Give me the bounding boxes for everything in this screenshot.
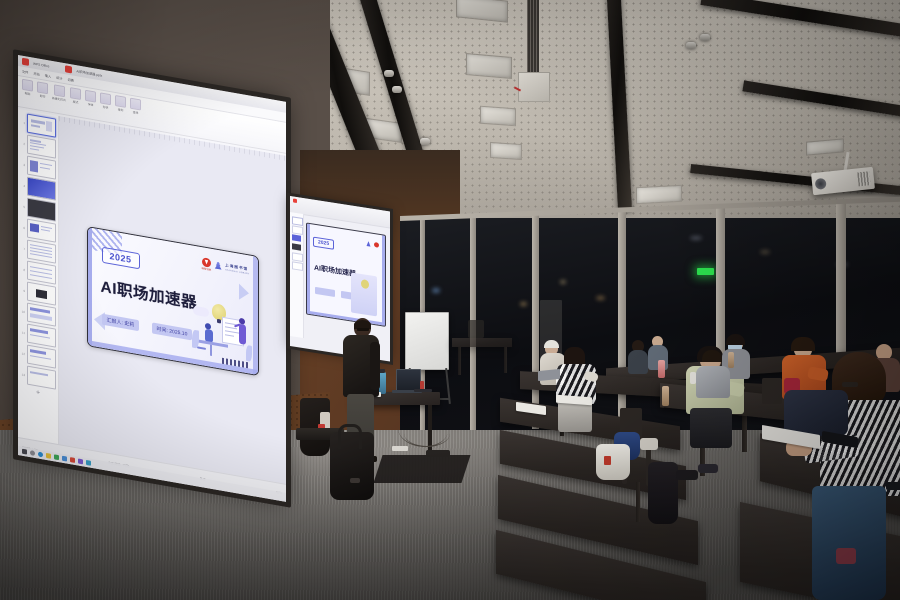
shoe: [698, 464, 718, 473]
ceiling-spotlight: [686, 42, 696, 49]
water-bottle: [728, 352, 734, 368]
backpack: [812, 486, 886, 600]
thumb-number: 10: [20, 309, 25, 314]
new-slide-icon: [54, 84, 65, 97]
white-cap: [544, 340, 559, 348]
floor-cable-mat: [373, 455, 470, 483]
window-reflection: [690, 236, 702, 240]
red-circular-logo-icon: [202, 257, 211, 268]
shoe: [676, 470, 698, 480]
ribbon-label: 查找: [133, 110, 139, 115]
thumb-number: 1: [20, 120, 25, 125]
wps-app-tab[interactable]: WPS Office: [33, 61, 49, 68]
person-hoodie: [696, 366, 730, 398]
table-leg: [636, 482, 640, 522]
logo-red-group: 明智领航: [202, 257, 212, 272]
window-mullion: [532, 214, 539, 429]
shoe: [640, 438, 658, 450]
cable-cover: [426, 450, 450, 457]
list-item: [696, 352, 730, 398]
paste-icon: [22, 79, 33, 92]
primary-projection-screen[interactable]: WPS Office AI职场加速器.pptx 文件 开始 插入 设计 切换 粘…: [18, 55, 286, 502]
backpack-strap: [338, 424, 362, 449]
find-icon: [130, 98, 141, 111]
eyeglasses-icon: [842, 382, 858, 387]
thumb-number: 6: [20, 225, 25, 230]
eyeglasses-icon: [357, 328, 369, 331]
edge-icon[interactable]: [38, 452, 43, 458]
store-icon[interactable]: [78, 459, 83, 465]
water-bottle: [662, 386, 669, 406]
shapes-icon: [100, 92, 111, 105]
thumb-number: 3: [20, 162, 25, 167]
thumb-number: 5: [20, 204, 25, 209]
illustration-person-standing: [239, 323, 246, 344]
person-hair: [726, 334, 745, 345]
slide-canvas[interactable]: 明智领航 上海图书馆 SHANGHAI LIBRARY 2025 AI职场加速器…: [87, 225, 259, 375]
library-logo-text: 上海图书馆 SHANGHAI LIBRARY: [225, 263, 249, 275]
menu-insert[interactable]: 插入: [45, 73, 51, 79]
ceiling-spotlight: [420, 138, 430, 145]
ceiling-spotlight: [392, 86, 402, 93]
lightbulb-icon: [361, 279, 369, 289]
power-strip: [392, 446, 408, 451]
explorer-icon[interactable]: [46, 453, 51, 459]
table-row: [452, 338, 512, 347]
ribbon-label: 剪切: [40, 94, 46, 99]
window-reflection: [560, 280, 566, 284]
window-reflection: [596, 296, 605, 300]
water-bottle: [658, 360, 665, 378]
table-leg: [458, 347, 461, 375]
thumb-number: 13: [20, 372, 25, 377]
windows-start-icon[interactable]: [22, 449, 27, 455]
list-item: [628, 340, 648, 374]
thumb-number: 9: [20, 288, 25, 293]
lightbulb-base: [217, 318, 221, 323]
slide-thumbnail-panel-secondary[interactable]: [290, 212, 304, 338]
pagoda-library-logo-icon: [366, 241, 371, 248]
illustration-person-head: [205, 322, 211, 329]
illustration-plant: [246, 344, 252, 361]
projector-vent: [857, 171, 870, 186]
backpack-patch: [836, 548, 856, 564]
white-bag: [596, 444, 630, 480]
slide-presenter-pill-secondary: [315, 287, 335, 297]
lightbulb-whiteboard-teamwork-illustration: [192, 295, 254, 370]
ribbon-group-cut[interactable]: 剪切: [37, 81, 48, 99]
window-reflection: [760, 250, 770, 254]
lecture-hall-photo: WPS Office AI职场加速器.pptx 文件 开始 插入 设计 切换 粘…: [0, 0, 900, 600]
pagoda-library-logo-icon: [214, 261, 222, 271]
menu-home[interactable]: 开始: [33, 71, 39, 77]
menu-transition[interactable]: 切换: [68, 77, 74, 83]
ribbon-label: 形状: [103, 105, 109, 110]
slide-thumbnail-panel[interactable]: 1 2: [18, 109, 59, 445]
red-circular-logo-icon: [374, 242, 379, 248]
thumb-number: 8: [20, 267, 25, 272]
ribbon-label: 排列: [118, 107, 124, 112]
ribbon-group-arrange[interactable]: 排列: [115, 95, 126, 113]
cloud-shape-icon: [193, 305, 209, 317]
illustration-desk-leg: [210, 344, 212, 355]
desk-remote: [414, 389, 432, 392]
wechat-icon[interactable]: [54, 454, 59, 460]
slide-decor-band: [88, 227, 92, 346]
person-hair: [791, 337, 815, 351]
slide-title-secondary: AI职场加速器: [314, 263, 356, 280]
wps-workspace: 1 2: [18, 109, 286, 485]
person-trousers: [690, 408, 732, 448]
ceiling-light-panel: [480, 106, 516, 127]
ceiling-light-panel: [490, 142, 522, 160]
ribbon-group-shapes[interactable]: 形状: [100, 92, 111, 110]
layout-icon: [70, 87, 81, 100]
ribbon-label: 粘贴: [25, 91, 31, 96]
illustration-plant: [192, 329, 199, 348]
ribbon-group-find[interactable]: 查找: [130, 98, 141, 116]
ppt-file-icon: [65, 65, 72, 73]
ribbon-group-font[interactable]: 字体: [85, 90, 96, 108]
ceiling-equipment-box: [518, 72, 550, 102]
thumb-number: 4: [20, 183, 25, 188]
menu-design[interactable]: 设计: [56, 75, 62, 81]
cup: [690, 372, 696, 384]
search-icon[interactable]: [30, 450, 35, 456]
wps-logo-icon: [22, 58, 29, 66]
ceiling-light-panel: [636, 185, 682, 204]
navy-coat-on-chair: [784, 390, 848, 436]
projector-lens-icon: [815, 178, 827, 190]
ribbon-group-layout[interactable]: 版式: [70, 87, 81, 105]
ribbon-label: 版式: [73, 100, 79, 105]
wps-logo-icon: [293, 198, 297, 203]
whiteboard: [405, 312, 449, 370]
slide-canvas-secondary[interactable]: 2025 AI职场加速器: [306, 222, 386, 326]
ribbon-label: 字体: [88, 102, 94, 107]
window-reflection: [432, 288, 440, 293]
table-leg: [504, 347, 507, 373]
window-reflection: [520, 302, 527, 306]
thumb-number: 11: [20, 330, 25, 335]
presenter-arm: [370, 342, 380, 390]
menu-file[interactable]: 文件: [22, 69, 28, 75]
ceiling-light-panel: [466, 53, 512, 79]
slide-decor-triangle: [239, 283, 249, 301]
cut-icon: [37, 81, 48, 94]
font-icon: [85, 90, 96, 103]
ceiling-spotlight: [700, 34, 710, 41]
list-item: [556, 348, 596, 438]
thumb-number: 2: [20, 141, 25, 146]
thumb-number: 12: [20, 351, 25, 356]
ceiling-duct: [527, 0, 539, 76]
backpack-buckle: [350, 478, 360, 483]
wps-office-window[interactable]: WPS Office AI职场加速器.pptx 文件 开始 插入 设计 切换 粘…: [18, 55, 286, 502]
person-hair: [702, 350, 722, 362]
ribbon-group-paste[interactable]: 粘贴: [22, 79, 33, 97]
person-jacket: [628, 350, 648, 374]
ribbon-group-new-slide[interactable]: 新建幻灯片: [52, 84, 66, 102]
power-cable: [404, 420, 450, 447]
ceiling-spotlight: [384, 70, 394, 77]
thumb-number: 7: [20, 246, 25, 251]
wps-icon[interactable]: [70, 457, 75, 463]
slide-canvas-area[interactable]: 明智领航 上海图书馆 SHANGHAI LIBRARY 2025 AI职场加速器…: [59, 116, 286, 485]
arrange-icon: [115, 95, 126, 108]
exit-sign-icon: [697, 268, 714, 275]
chair: [762, 378, 782, 404]
slide-thumbnail[interactable]: [27, 366, 56, 390]
mail-icon[interactable]: [86, 460, 91, 466]
qq-icon[interactable]: [62, 456, 67, 462]
phone-on-desk[interactable]: [886, 482, 900, 490]
slide-year-badge-secondary: 2025: [313, 237, 334, 250]
chair: [468, 320, 484, 338]
backpack: [648, 462, 678, 524]
bag-logo: [604, 456, 611, 465]
